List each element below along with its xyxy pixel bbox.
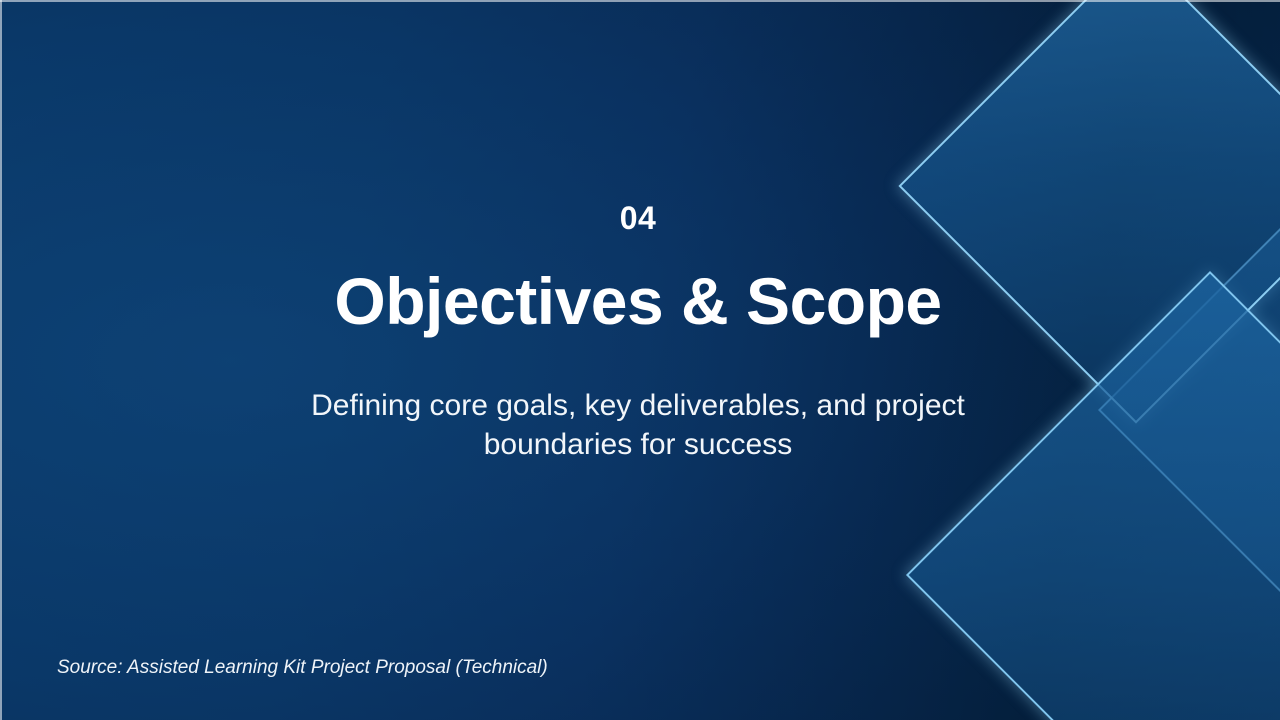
source-note: Source: Assisted Learning Kit Project Pr…	[57, 655, 548, 681]
page-title: Objectives & Scope	[0, 262, 1276, 340]
section-divider-slide: 04 Objectives & Scope Defining core goal…	[0, 0, 1280, 720]
slide-content: 04 Objectives & Scope Defining core goal…	[0, 0, 1280, 720]
page-subtitle: Defining core goals, key deliverables, a…	[238, 386, 1038, 464]
section-number: 04	[0, 198, 1276, 238]
